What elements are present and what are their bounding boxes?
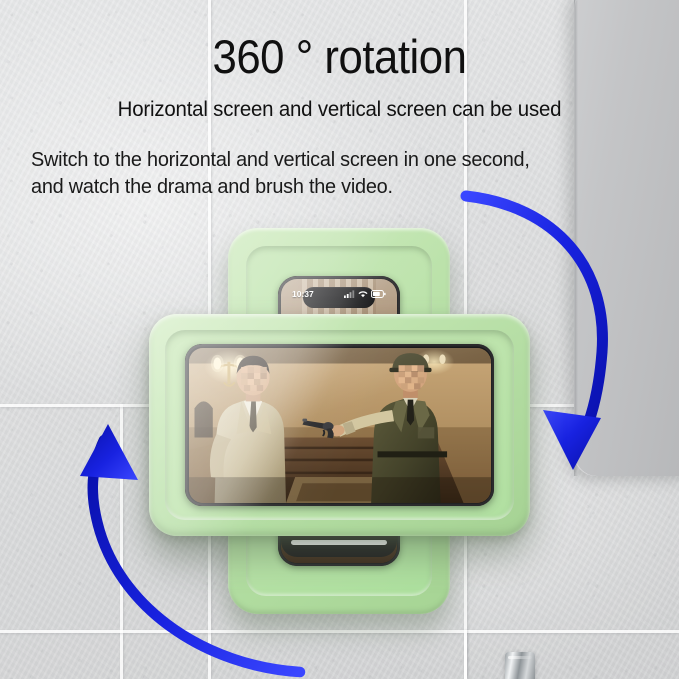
- body-line-2: and watch the drama and brush the video.: [31, 173, 633, 200]
- page-body-copy: Switch to the horizontal and vertical sc…: [0, 122, 659, 201]
- phone-case-horizontal-inner: [165, 330, 514, 520]
- grout-line-vertical: [120, 404, 123, 679]
- marketing-copy: 360 ° rotation Horizontal screen and ver…: [0, 0, 679, 201]
- body-line-1: Switch to the horizontal and vertical sc…: [31, 146, 633, 173]
- metal-fixture: [505, 652, 535, 679]
- cellular-signal-icon: [344, 290, 355, 298]
- page-subtitle: Horizontal screen and vertical screen ca…: [17, 80, 662, 122]
- phone-status-bar: 10:37: [278, 289, 400, 299]
- status-bar-time: 10:37: [292, 289, 314, 299]
- product-marketing-image: 360 ° rotation Horizontal screen and ver…: [0, 0, 679, 679]
- grout-line-horizontal: [0, 630, 679, 633]
- status-bar-icons: [344, 290, 386, 298]
- grout-line-vertical: [464, 630, 467, 679]
- phone-landscape: [185, 344, 494, 506]
- home-indicator: [291, 540, 387, 545]
- wifi-icon: [358, 290, 368, 298]
- page-title: 360 ° rotation: [24, 0, 655, 80]
- movie-scene: [189, 348, 491, 503]
- phone-case-horizontal: [149, 314, 530, 536]
- battery-icon: [371, 290, 386, 298]
- movie-still: [189, 348, 491, 503]
